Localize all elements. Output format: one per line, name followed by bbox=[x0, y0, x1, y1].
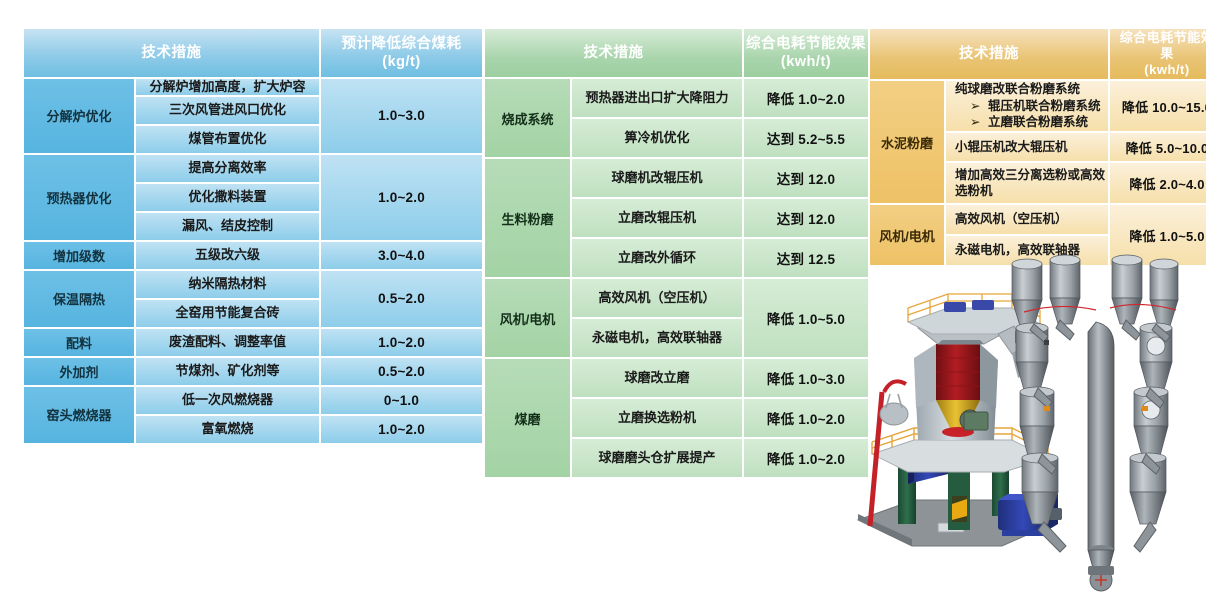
t2-measure-1-0: 球磨机改辊压机 bbox=[572, 159, 742, 197]
t1-value-6-1: 1.0~2.0 bbox=[321, 416, 482, 443]
kiln-inlet-flange bbox=[1088, 566, 1114, 575]
t3-value-header-line2: 果 bbox=[1160, 46, 1174, 61]
t3-group-1: 风机/电机 bbox=[870, 205, 944, 265]
t2-measure-1-1: 立磨改辊压机 bbox=[572, 199, 742, 237]
t3-measure-0-1: 小辊压机改大辊压机 bbox=[946, 133, 1108, 161]
table-row: 风机/电机 高效风机（空压机） 降低 1.0~5.0 bbox=[870, 205, 1206, 234]
slide-canvas: 技术措施 预计降低综合煤耗 (kg/t) 分解炉优化 分解炉增加高度，扩大炉容 … bbox=[0, 0, 1206, 608]
t1-group-3: 保温隔热 bbox=[24, 271, 134, 327]
t2-value-header-line2: (kwh/t) bbox=[781, 54, 831, 70]
t1-value-0: 1.0~3.0 bbox=[321, 79, 482, 153]
table-row: 配料 废渣配料、调整率值 1.0~2.0 bbox=[24, 329, 482, 356]
t2-measure-0-0: 预热器进出口扩大降阻力 bbox=[572, 79, 742, 117]
t2-measure-0-1: 箅冷机优化 bbox=[572, 119, 742, 157]
t1-measure-header: 技术措施 bbox=[24, 29, 319, 77]
t1-value-2: 3.0~4.0 bbox=[321, 242, 482, 269]
inspection-port bbox=[1147, 337, 1165, 355]
t3-measure-0-2-line2: 选粉机 bbox=[955, 184, 993, 198]
t1-value-1: 1.0~2.0 bbox=[321, 155, 482, 240]
mill-shell-cutaway-left bbox=[914, 344, 936, 408]
table-row: 生料粉磨 球磨机改辊压机 达到 12.0 bbox=[485, 159, 868, 197]
t2-value-3-2: 降低 1.0~2.0 bbox=[744, 439, 868, 477]
t3-measure-0-0: 纯球磨改联合粉磨系统 ➢辊压机联合粉磨系统 ➢立磨联合粉磨系统 bbox=[946, 81, 1108, 131]
t2-value-3-1: 降低 1.0~2.0 bbox=[744, 399, 868, 437]
t2-measure-2-0: 高效风机（空压机） bbox=[572, 279, 742, 317]
t2-value-header-line1: 综合电耗节能效果 bbox=[746, 36, 866, 52]
t3-measure-0-0-content: 纯球磨改联合粉磨系统 ➢辊压机联合粉磨系统 ➢立磨联合粉磨系统 bbox=[955, 81, 1108, 131]
t2-group-2: 风机/电机 bbox=[485, 279, 570, 357]
t3-value-0-2: 降低 2.0~4.0 bbox=[1110, 163, 1206, 203]
t3-bullet-1-label: 辊压机联合粉磨系统 bbox=[988, 99, 1101, 113]
arrow-bullet-icon: ➢ bbox=[970, 114, 988, 131]
t1-value-header-line1: 预计降低综合煤耗 bbox=[342, 36, 462, 52]
t1-group-5: 外加剂 bbox=[24, 358, 134, 385]
t2-group-0: 烧成系统 bbox=[485, 79, 570, 157]
t1-measure-5-0: 节煤剂、矿化剂等 bbox=[136, 358, 319, 385]
t2-measure-1-2: 立磨改外循环 bbox=[572, 239, 742, 277]
table-row: 增加级数 五级改六级 3.0~4.0 bbox=[24, 242, 482, 269]
t3-measure-0-0-bullet-1: ➢辊压机联合粉磨系统 bbox=[955, 98, 1108, 115]
cyclone-top-2 bbox=[1050, 255, 1080, 324]
t1-measure-4-0: 废渣配料、调整率值 bbox=[136, 329, 319, 356]
cyclone-top-1 bbox=[1012, 259, 1042, 326]
t2-measure-3-0: 球磨改立磨 bbox=[572, 359, 742, 397]
mill-top-equipment-box bbox=[972, 300, 994, 310]
mill-top-equipment-box bbox=[944, 302, 966, 312]
table-row: 预热器优化 提高分离效率 1.0~2.0 bbox=[24, 155, 482, 182]
t3-value-header-line3: (kwh/t) bbox=[1144, 62, 1189, 77]
cement-grinding-table: 技术措施 综合电耗节能效 果 (kwh/t) 水泥粉磨 纯球磨改联合粉磨系统 ➢… bbox=[868, 27, 1206, 267]
riser-duct bbox=[1088, 322, 1114, 550]
t2-measure-header: 技术措施 bbox=[485, 29, 742, 77]
t1-measure-2-0: 五级改六级 bbox=[136, 242, 319, 269]
t2-value-1-0: 达到 12.0 bbox=[744, 159, 868, 197]
t1-value-header: 预计降低综合煤耗 (kg/t) bbox=[321, 29, 482, 77]
t1-value-6-0: 0~1.0 bbox=[321, 387, 482, 414]
t1-measure-0-2: 煤管布置优化 bbox=[136, 126, 319, 153]
t1-value-4: 1.0~2.0 bbox=[321, 329, 482, 356]
table-header-row: 技术措施 综合电耗节能效 果 (kwh/t) bbox=[870, 29, 1206, 79]
t1-group-4: 配料 bbox=[24, 329, 134, 356]
mill-shell-cutaway-right bbox=[980, 344, 998, 408]
cyclone-top-4 bbox=[1150, 259, 1178, 326]
t1-measure-0-1: 三次风管进风口优化 bbox=[136, 97, 319, 124]
table-header-row: 技术措施 综合电耗节能效果 (kwh/t) bbox=[485, 29, 868, 77]
mill-hoist-bucket bbox=[880, 403, 908, 425]
t2-value-2: 降低 1.0~5.0 bbox=[744, 279, 868, 357]
t2-measure-2-1: 永磁电机，高效联轴器 bbox=[572, 319, 742, 357]
flap-valve bbox=[1044, 340, 1049, 345]
electricity-saving-table: 技术措施 综合电耗节能效果 (kwh/t) 烧成系统 预热器进出口扩大降阻力 降… bbox=[483, 27, 870, 479]
t3-value-header-line1: 综合电耗节能效 bbox=[1120, 30, 1206, 45]
table-header-row: 技术措施 预计降低综合煤耗 (kg/t) bbox=[24, 29, 482, 77]
t1-group-2: 增加级数 bbox=[24, 242, 134, 269]
flap-valve bbox=[1044, 406, 1050, 411]
mill-hoist-arm bbox=[884, 381, 906, 392]
t1-measure-1-1: 优化撒料装置 bbox=[136, 184, 319, 211]
table-row: 煤磨 球磨改立磨 降低 1.0~3.0 bbox=[485, 359, 868, 397]
t1-group-1: 预热器优化 bbox=[24, 155, 134, 240]
cyclone-top-3 bbox=[1112, 255, 1142, 324]
t2-group-1: 生料粉磨 bbox=[485, 159, 570, 277]
t3-measure-0-2-line1: 增加高效三分离选粉或高效 bbox=[955, 168, 1105, 182]
table-row: 烧成系统 预热器进出口扩大降阻力 降低 1.0~2.0 bbox=[485, 79, 868, 117]
t2-measure-3-1: 立磨换选粉机 bbox=[572, 399, 742, 437]
t1-measure-3-1: 全窑用节能复合砖 bbox=[136, 300, 319, 327]
t1-group-0: 分解炉优化 bbox=[24, 79, 134, 153]
table-row: 分解炉优化 分解炉增加高度，扩大炉容 1.0~3.0 bbox=[24, 79, 482, 95]
t2-value-3-0: 降低 1.0~3.0 bbox=[744, 359, 868, 397]
t1-measure-1-0: 提高分离效率 bbox=[136, 155, 319, 182]
preheater-cyclone-tower-render bbox=[1000, 250, 1190, 595]
t1-group-6: 窑头燃烧器 bbox=[24, 387, 134, 443]
table-row: 保温隔热 纳米隔热材料 0.5~2.0 bbox=[24, 271, 482, 298]
table-row: 水泥粉磨 纯球磨改联合粉磨系统 ➢辊压机联合粉磨系统 ➢立磨联合粉磨系统 降低 … bbox=[870, 81, 1206, 131]
t3-measure-1-0: 高效风机（空压机） bbox=[946, 205, 1108, 234]
t2-value-0-1: 达到 5.2~5.5 bbox=[744, 119, 868, 157]
table-row: 风机/电机 高效风机（空压机） 降低 1.0~5.0 bbox=[485, 279, 868, 317]
t3-bullet-2-label: 立磨联合粉磨系统 bbox=[988, 115, 1088, 129]
t1-measure-0-0: 分解炉增加高度，扩大炉容 bbox=[136, 79, 319, 95]
t2-value-0-0: 降低 1.0~2.0 bbox=[744, 79, 868, 117]
t3-value-0-1: 降低 5.0~10.0 bbox=[1110, 133, 1206, 161]
t2-measure-3-2: 球磨磨头仓扩展提产 bbox=[572, 439, 742, 477]
mill-top-housing-edge bbox=[938, 340, 984, 344]
arrow-bullet-icon: ➢ bbox=[970, 98, 988, 115]
t2-value-1-2: 达到 12.5 bbox=[744, 239, 868, 277]
table-row: 外加剂 节煤剂、矿化剂等 0.5~2.0 bbox=[24, 358, 482, 385]
t1-value-5: 0.5~2.0 bbox=[321, 358, 482, 385]
mill-gearbox bbox=[964, 412, 988, 430]
t3-value-0-0: 降低 10.0~15.0 bbox=[1110, 81, 1206, 131]
t3-measure-header: 技术措施 bbox=[870, 29, 1108, 79]
t1-value-3: 0.5~2.0 bbox=[321, 271, 482, 327]
t3-measure-0-2: 增加高效三分离选粉或高效 选粉机 bbox=[946, 163, 1108, 203]
t1-measure-1-2: 漏风、结皮控制 bbox=[136, 213, 319, 240]
t1-measure-3-0: 纳米隔热材料 bbox=[136, 271, 319, 298]
t3-value-header: 综合电耗节能效 果 (kwh/t) bbox=[1110, 29, 1206, 79]
t1-measure-6-0: 低一次风燃烧器 bbox=[136, 387, 319, 414]
table-row: 窑头燃烧器 低一次风燃烧器 0~1.0 bbox=[24, 387, 482, 414]
t2-value-header: 综合电耗节能效果 (kwh/t) bbox=[744, 29, 868, 77]
coal-saving-table: 技术措施 预计降低综合煤耗 (kg/t) 分解炉优化 分解炉增加高度，扩大炉容 … bbox=[22, 27, 484, 445]
t2-group-3: 煤磨 bbox=[485, 359, 570, 477]
t3-measure-0-0-bullet-2: ➢立磨联合粉磨系统 bbox=[955, 114, 1108, 131]
t3-group-0: 水泥粉磨 bbox=[870, 81, 944, 203]
t2-value-1-1: 达到 12.0 bbox=[744, 199, 868, 237]
t1-value-header-line2: (kg/t) bbox=[382, 54, 420, 70]
flap-valve bbox=[1142, 406, 1148, 411]
t1-measure-6-1: 富氧燃烧 bbox=[136, 416, 319, 443]
t3-measure-0-0-main: 纯球磨改联合粉磨系统 bbox=[955, 81, 1108, 98]
